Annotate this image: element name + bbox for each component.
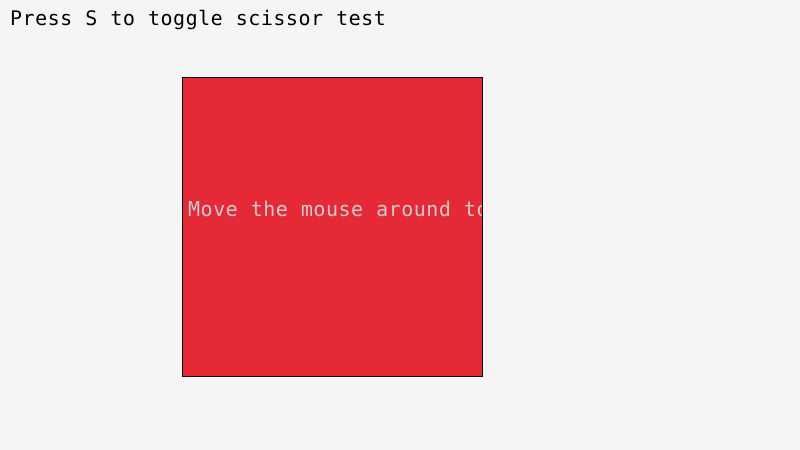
clipped-message-text: Move the mouse around to reveal this tex… [188,198,483,220]
raylib-window: Press S to toggle scissor test Move the … [0,0,800,450]
scissor-rectangle[interactable]: Move the mouse around to reveal this tex… [182,77,483,377]
hint-text: Press S to toggle scissor test [10,7,386,29]
